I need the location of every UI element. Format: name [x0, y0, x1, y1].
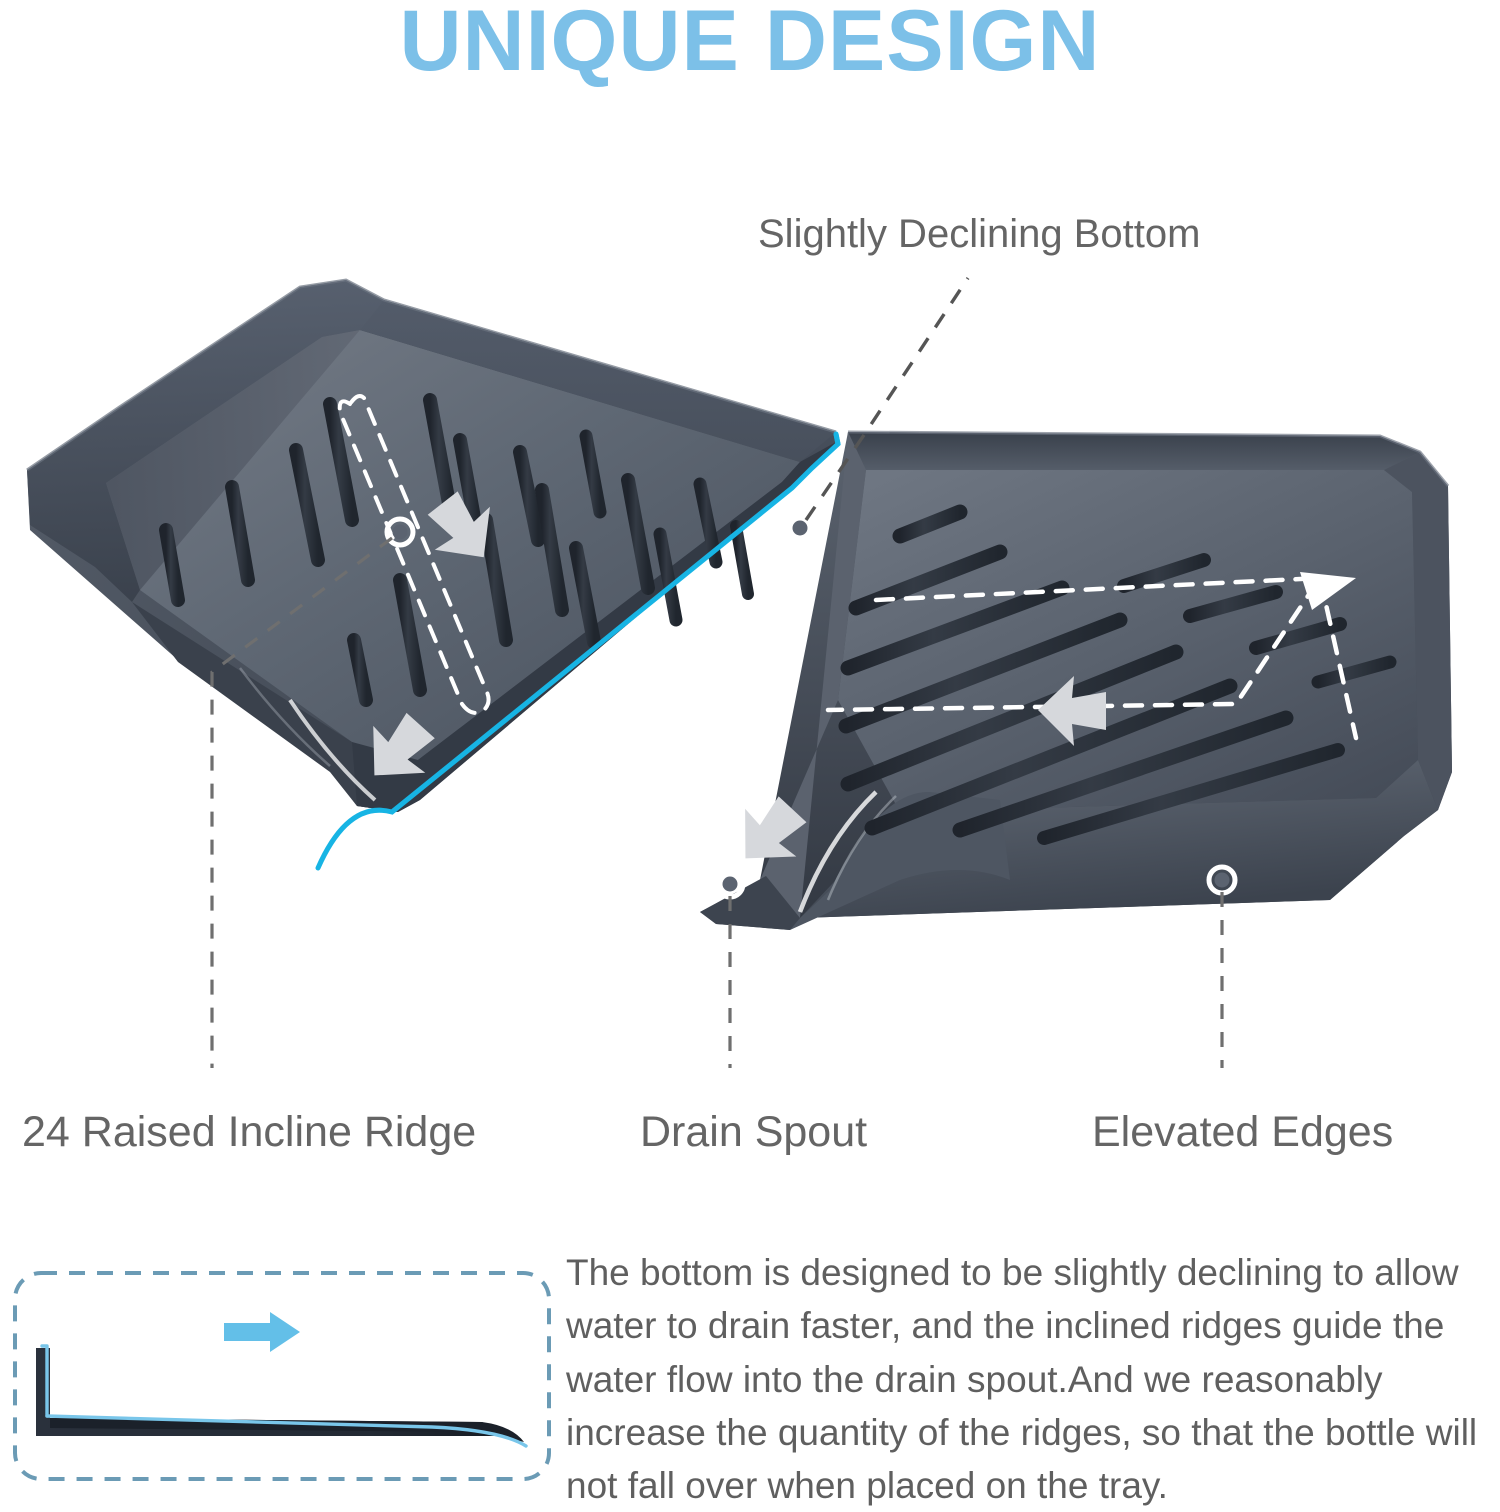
circle-marker-icon — [387, 519, 413, 545]
left-tray — [27, 280, 838, 1068]
description-paragraph: The bottom is designed to be slightly de… — [566, 1246, 1500, 1512]
callout-label-elevated-edges: Elevated Edges — [1092, 1108, 1393, 1157]
circle-marker-icon — [787, 515, 813, 541]
flow-arrow-icon — [349, 481, 512, 799]
right-tray — [700, 278, 1452, 1068]
circle-marker-icon — [717, 871, 743, 897]
right-tray-ridges — [846, 512, 1390, 838]
chevron-arrow-icon — [1300, 572, 1356, 610]
callout-label-drain-spout: Drain Spout — [640, 1108, 867, 1157]
callout-label-raised-incline-ridge: 24 Raised Incline Ridge — [22, 1108, 476, 1157]
leader-line-ridge — [212, 538, 392, 1068]
right-arrow-icon — [224, 1312, 300, 1352]
profile-cross-section-figure — [12, 1270, 552, 1482]
declining-edge-highlight — [318, 434, 838, 868]
circle-marker-icon — [1209, 867, 1235, 893]
page-title: UNIQUE DESIGN — [0, 0, 1500, 86]
ridge-outline-dashed — [340, 396, 489, 713]
flow-arrow-icon — [721, 676, 1106, 883]
leader-line-declining — [806, 278, 968, 520]
chevron-outline-dashed — [828, 578, 1356, 738]
profile-dashed-frame — [15, 1273, 549, 1479]
callout-label-declining-bottom: Slightly Declining Bottom — [758, 212, 1200, 257]
left-tray-ridges — [166, 400, 748, 700]
